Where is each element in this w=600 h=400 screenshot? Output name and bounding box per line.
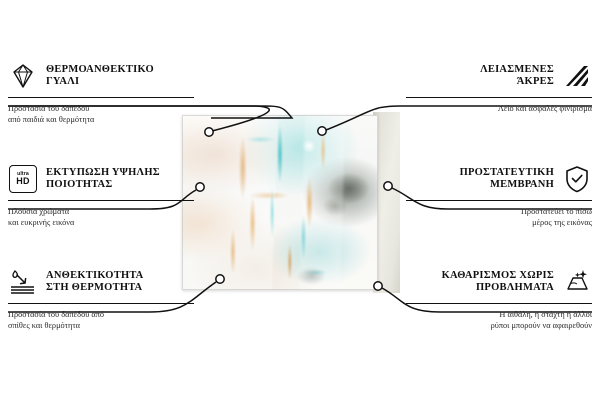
feature-heat-resistant-glass[interactable]: ΘΕΡΜΟΑΝΘΕΚΤΙΚΟ ΓΥΑΛΙ Προστασία του δαπέδ…	[8, 60, 194, 125]
ink-artwork	[182, 115, 378, 290]
feature-description: Η αιθάλη, η στάχτη ή άλλοι ρύποι μπορούν…	[406, 309, 592, 331]
feature-protective-membrane[interactable]: ΠΡΟΣΤΑΤΕΥΤΙΚΗ ΜΕΜΒΡΑΝΗ Προστατεύει το πί…	[406, 163, 592, 228]
feature-title: ΛΕΙΑΣΜΕΝΕΣ ΆΚΡΕΣ	[406, 64, 554, 89]
feature-heat-durability[interactable]: ΑΝΘΕΚΤΙΚΟΤΗΤΑ ΣΤΗ ΘΕΡΜΟΤΗΤΑ Προστασία το…	[8, 266, 194, 331]
product-image	[182, 115, 400, 290]
feature-high-quality-print[interactable]: ultra HD ΕΚΤΥΠΩΣΗ ΥΨΗΛΗΣ ΠΟΙΟΤΗΤΑΣ Πλούσ…	[8, 163, 194, 228]
feature-title: ΚΑΘΑΡΙΣΜΟΣ ΧΩΡΙΣ ΠΡΟΒΛΗΜΑΤΑ	[406, 270, 554, 295]
feature-divider	[8, 97, 194, 98]
feature-divider	[406, 97, 592, 98]
feature-divider	[8, 200, 194, 201]
feature-smoothed-edges[interactable]: ΛΕΙΑΣΜΕΝΕΣ ΆΚΡΕΣ Λείο και ασφαλές φινίρι…	[406, 60, 592, 114]
glass-panel	[182, 115, 378, 290]
feature-title: ΑΝΘΕΚΤΙΚΟΤΗΤΑ ΣΤΗ ΘΕΡΜΟΤΗΤΑ	[46, 270, 194, 295]
feature-description: Πλούσια χρώματα και ευκρινής εικόνα	[8, 206, 194, 228]
infographic-canvas: ΘΕΡΜΟΑΝΘΕΚΤΙΚΟ ΓΥΑΛΙ Προστασία του δαπέδ…	[0, 0, 600, 400]
diamond-icon	[8, 61, 38, 91]
hd-label: HD	[16, 177, 29, 186]
feature-easy-cleaning[interactable]: ΚΑΘΑΡΙΣΜΟΣ ΧΩΡΙΣ ΠΡΟΒΛΗΜΑΤΑ Η αιθάλη, η …	[406, 266, 592, 331]
feature-description: Λείο και ασφαλές φινίρισμα	[406, 103, 592, 114]
feature-description: Προστασία του δαπέδου από παιδιά και θερ…	[8, 103, 194, 125]
flame-layers-icon	[8, 267, 38, 297]
feature-title: ΕΚΤΥΠΩΣΗ ΥΨΗΛΗΣ ΠΟΙΟΤΗΤΑΣ	[46, 167, 194, 192]
ultra-hd-icon: ultra HD	[8, 164, 38, 194]
feature-divider	[8, 303, 194, 304]
feature-divider	[406, 303, 592, 304]
diagonal-stripes-icon	[562, 61, 592, 91]
sponge-sparkle-icon	[562, 267, 592, 297]
feature-title: ΘΕΡΜΟΑΝΘΕΚΤΙΚΟ ΓΥΑΛΙ	[46, 64, 194, 89]
feature-divider	[406, 200, 592, 201]
feature-description: Προστασία του δαπέδου από σπίθες και θερ…	[8, 309, 194, 331]
feature-title: ΠΡΟΣΤΑΤΕΥΤΙΚΗ ΜΕΜΒΡΑΝΗ	[406, 167, 554, 192]
ink-grey-cloud	[182, 115, 378, 290]
shield-check-icon	[562, 164, 592, 194]
feature-description: Προστατεύει το πίσω μέρος της εικόνας	[406, 206, 592, 228]
